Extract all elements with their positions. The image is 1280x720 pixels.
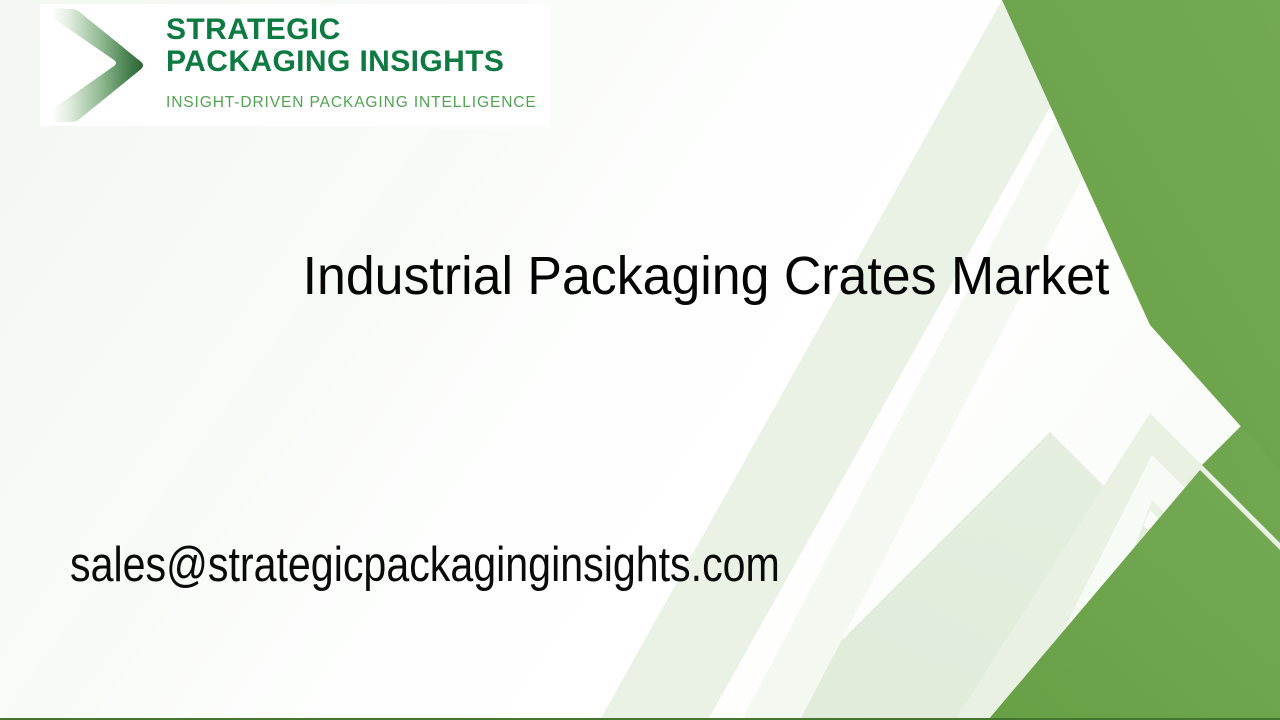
logo-tagline: INSIGHT-DRIVEN PACKAGING INTELLIGENCE xyxy=(166,94,537,112)
logo-text-block: STRATEGIC PACKAGING INSIGHTS INSIGHT-DRI… xyxy=(166,4,537,112)
slide-title: Industrial Packaging Crates Market xyxy=(293,250,1119,302)
logo-wordmark-line-2: PACKAGING INSIGHTS xyxy=(166,46,537,78)
logo-wordmark-line-1: STRATEGIC xyxy=(166,14,537,46)
diagonal-wash-upper-left xyxy=(0,130,520,720)
contact-email: sales@strategicpackaginginsights.com xyxy=(70,536,780,594)
chevron-arrow-icon xyxy=(42,4,154,122)
company-logo: STRATEGIC PACKAGING INSIGHTS INSIGHT-DRI… xyxy=(40,4,550,126)
presentation-slide: STRATEGIC PACKAGING INSIGHTS INSIGHT-DRI… xyxy=(0,0,1280,720)
